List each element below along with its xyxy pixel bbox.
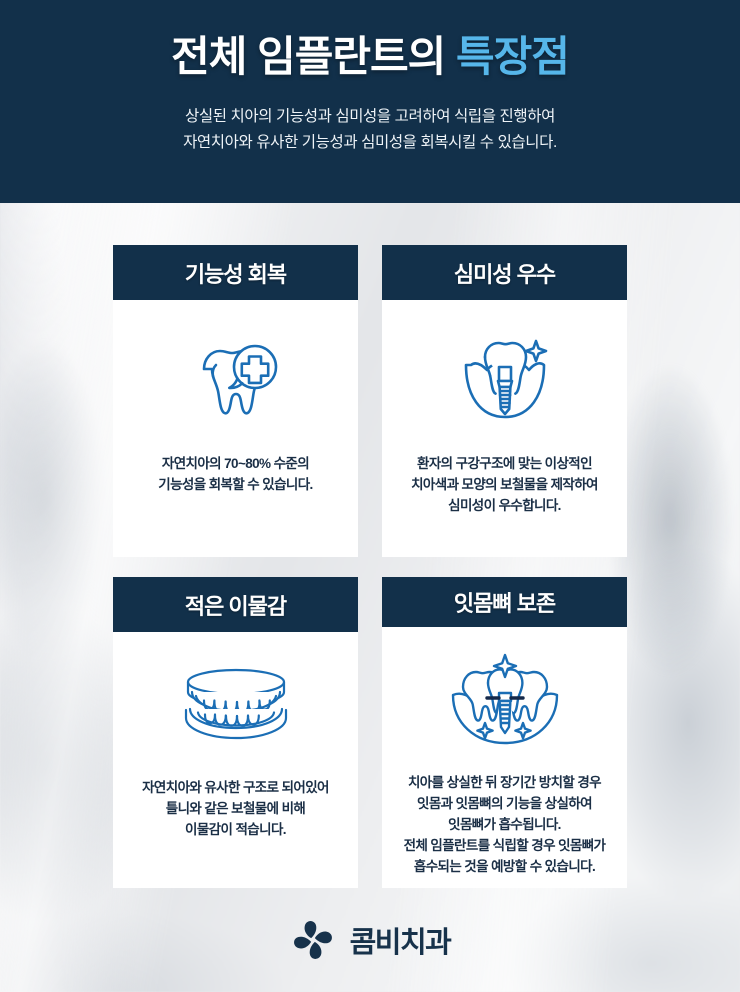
- card-desc-line: 치아를 상실한 뒤 장기간 방치할 경우: [404, 773, 606, 794]
- card-desc-line: 잇몸과 잇몸뼈의 기능을 상실하여: [404, 794, 606, 815]
- card-header: 기능성 회복: [113, 245, 358, 300]
- header-banner: 전체 임플란트의 특장점 상실된 치아의 기능성과 심미성을 고려하여 식립을 …: [0, 0, 740, 203]
- feature-card-bone-preservation: 잇몸뼈 보존: [382, 577, 627, 888]
- card-body: 자연치아의 70~80% 수준의 기능성을 회복할 수 있습니다.: [113, 300, 358, 557]
- card-desc-line: 틀니와 같은 보철물에 비해: [142, 799, 329, 820]
- feature-card-aesthetics: 심미성 우수 환자의 구강구조에 맞는 이상적인 치아색과 모양의 보철: [382, 245, 627, 557]
- card-desc-line: 자연치아의 70~80% 수준의: [158, 454, 312, 475]
- card-desc-line: 환자의 구강구조에 맞는 이상적인: [411, 454, 598, 475]
- card-desc-line: 심미성이 우수합니다.: [411, 496, 598, 517]
- subtitle-line-2: 자연치아와 유사한 기능성과 심미성을 회복시킬 수 있습니다.: [183, 134, 557, 151]
- card-title: 심미성 우수: [454, 257, 555, 289]
- feature-card-comfort: 적은 이물감: [113, 577, 358, 888]
- subtitle-line-1: 상실된 치아의 기능성과 심미성을 고려하여 식립을 진행하여: [185, 108, 555, 125]
- footer-logo: 콤비치과: [0, 905, 740, 975]
- card-desc-line: 이물감이 적습니다.: [142, 820, 329, 841]
- page-title-accent: 특장점: [456, 33, 569, 80]
- feature-card-grid: 기능성 회복 자연치아의 70~80% 수준의 기능성을 회복할 수 있습니다.…: [113, 245, 627, 888]
- feature-card-functionality: 기능성 회복 자연치아의 70~80% 수준의 기능성을 회복할 수 있습니다.: [113, 245, 358, 557]
- page-title: 전체 임플란트의 특장점: [0, 36, 740, 78]
- teeth-implant-bone-icon: [443, 649, 567, 757]
- page-subtitle: 상실된 치아의 기능성과 심미성을 고려하여 식립을 진행하여 자연치아와 유사…: [0, 104, 740, 155]
- card-body: 환자의 구강구조에 맞는 이상적인 치아색과 모양의 보철물을 제작하여 심미성…: [382, 300, 627, 557]
- logo-text: 콤비치과: [350, 919, 451, 961]
- card-header: 적은 이물감: [113, 577, 358, 632]
- card-desc-line: 잇몸뼈가 흡수됩니다.: [404, 815, 606, 836]
- card-desc-line: 자연치아와 유사한 구조로 되어있어: [142, 778, 329, 799]
- card-description: 자연치아의 70~80% 수준의 기능성을 회복할 수 있습니다.: [158, 454, 312, 496]
- card-title: 적은 이물감: [185, 589, 286, 621]
- clover-logo-icon: [290, 917, 336, 963]
- card-description: 치아를 상실한 뒤 장기간 방치할 경우 잇몸과 잇몸뼈의 기능을 상실하여 잇…: [404, 773, 606, 878]
- card-desc-line: 기능성을 회복할 수 있습니다.: [158, 475, 312, 496]
- card-header: 심미성 우수: [382, 245, 627, 300]
- card-body: 치아를 상실한 뒤 장기간 방치할 경우 잇몸과 잇몸뼈의 기능을 상실하여 잇…: [382, 627, 627, 888]
- card-desc-line: 흡수되는 것을 예방할 수 있습니다.: [404, 857, 606, 878]
- implant-in-jaw-icon: [452, 322, 558, 440]
- denture-icon: [174, 654, 298, 762]
- page-title-main: 전체 임플란트의: [171, 33, 445, 80]
- tooth-plus-bubble-icon: [184, 322, 288, 440]
- card-desc-line: 치아색과 모양의 보철물을 제작하여: [411, 475, 598, 496]
- card-header: 잇몸뼈 보존: [382, 577, 627, 627]
- card-desc-line: 전체 임플란트를 식립할 경우 잇몸뼈가: [404, 836, 606, 857]
- card-title: 기능성 회복: [185, 257, 286, 289]
- card-title: 잇몸뼈 보존: [454, 586, 555, 618]
- card-description: 자연치아와 유사한 구조로 되어있어 틀니와 같은 보철물에 비해 이물감이 적…: [142, 778, 329, 841]
- card-body: 자연치아와 유사한 구조로 되어있어 틀니와 같은 보철물에 비해 이물감이 적…: [113, 632, 358, 888]
- card-description: 환자의 구강구조에 맞는 이상적인 치아색과 모양의 보철물을 제작하여 심미성…: [411, 454, 598, 517]
